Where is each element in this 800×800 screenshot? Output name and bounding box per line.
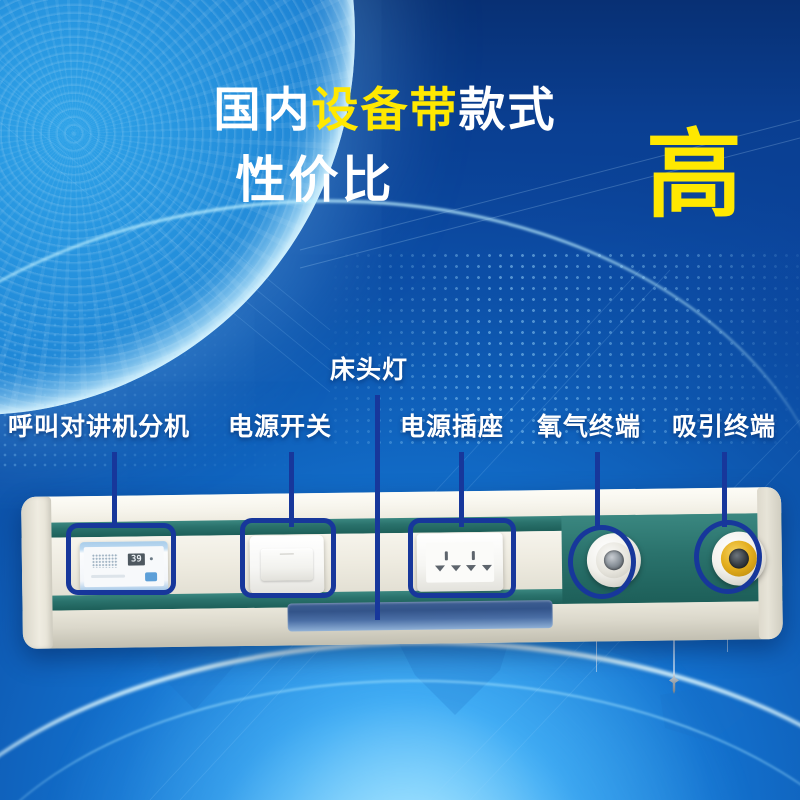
panel-end-cap-left — [21, 497, 53, 649]
headline-emphasis-word: 高 — [646, 128, 742, 224]
callout-label-power-socket: 电源插座 — [400, 415, 504, 440]
highlight-box-power-socket — [408, 518, 516, 598]
banner-canvas: 国内设备带款式 性价比 高 呼叫对讲机分机 电源开关 床头灯 电源插座 氧气终端… — [0, 0, 800, 800]
leader-line-intercom — [112, 452, 117, 527]
callout-label-oxygen: 氧气终端 — [537, 415, 641, 440]
leader-line-power-socket — [459, 452, 464, 527]
callout-label-intercom: 呼叫对讲机分机 — [8, 415, 190, 440]
leader-line-oxygen — [595, 452, 600, 527]
callout-label-power-switch: 电源开关 — [228, 415, 332, 440]
headline-block: 国内设备带款式 性价比 高 — [0, 86, 800, 205]
leader-line-power-switch — [289, 452, 294, 527]
headline-line1-part1: 国内 — [214, 83, 312, 136]
highlight-box-power-switch — [240, 518, 336, 598]
leader-line-bed-lamp — [375, 395, 380, 620]
leader-line-suction — [722, 452, 727, 527]
headline-line1-part2: 设备带 — [312, 83, 459, 136]
bed-lamp-light-strip — [287, 600, 552, 631]
headline-line1-part3: 款式 — [459, 83, 557, 136]
highlight-box-intercom — [66, 523, 176, 595]
callout-label-bed-lamp: 床头灯 — [330, 358, 408, 383]
highlight-circle-suction — [694, 520, 762, 594]
callout-label-suction: 吸引终端 — [672, 415, 776, 440]
highlight-circle-oxygen — [568, 525, 636, 599]
